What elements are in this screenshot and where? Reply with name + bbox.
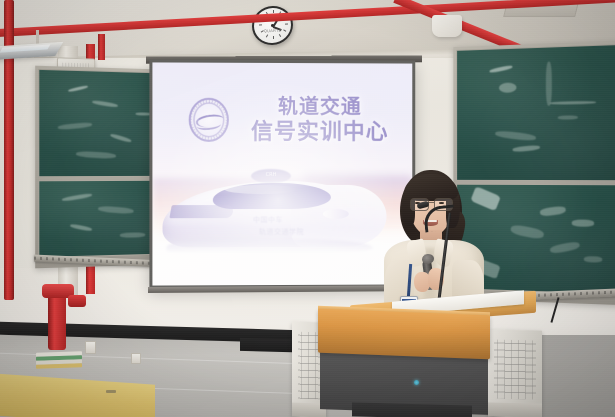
train-badge-text: CRH xyxy=(255,172,287,178)
lectern-podium xyxy=(292,300,542,417)
classroom-photo-scene: QUARTZ xyxy=(0,0,615,417)
slide-title: 轨道交通 信号实训中心 xyxy=(235,95,404,146)
slide-bottom-fade xyxy=(152,227,412,286)
speaker-perforation-right xyxy=(494,339,536,399)
projected-slide: 轨道交通 信号实训中心 CRH 中国中车 轨道交通学院 xyxy=(152,62,412,285)
wall-speaker-right-icon xyxy=(432,15,462,37)
chalkboard-right-pane-top xyxy=(456,44,615,181)
speaker-perforation-left xyxy=(298,332,320,400)
slide-title-line1: 轨道交通 xyxy=(235,95,404,118)
pipe-dropper xyxy=(98,34,105,60)
fire-standpipe-nozzle xyxy=(68,295,86,307)
floor-speaker-right xyxy=(488,329,542,417)
podium-base-shadow xyxy=(352,402,472,417)
clock-brand-label: QUARTZ xyxy=(264,28,282,34)
podium-wood-top xyxy=(318,309,490,360)
fire-standpipe xyxy=(48,290,66,350)
floor-marking xyxy=(106,390,116,393)
university-seal-emblem xyxy=(189,98,229,142)
wall-outlet[interactable] xyxy=(85,341,96,354)
projection-screen: 轨道交通 信号实训中心 CRH 中国中车 轨道交通学院 xyxy=(149,59,415,288)
podium-indicator-light[interactable] xyxy=(414,380,419,385)
stacked-books xyxy=(36,351,82,369)
wall-outlet-secondary[interactable] xyxy=(131,353,141,364)
slide-title-line2: 信号实训中心 xyxy=(235,120,404,146)
train-livery-text-1: 中国中车 xyxy=(253,215,283,225)
